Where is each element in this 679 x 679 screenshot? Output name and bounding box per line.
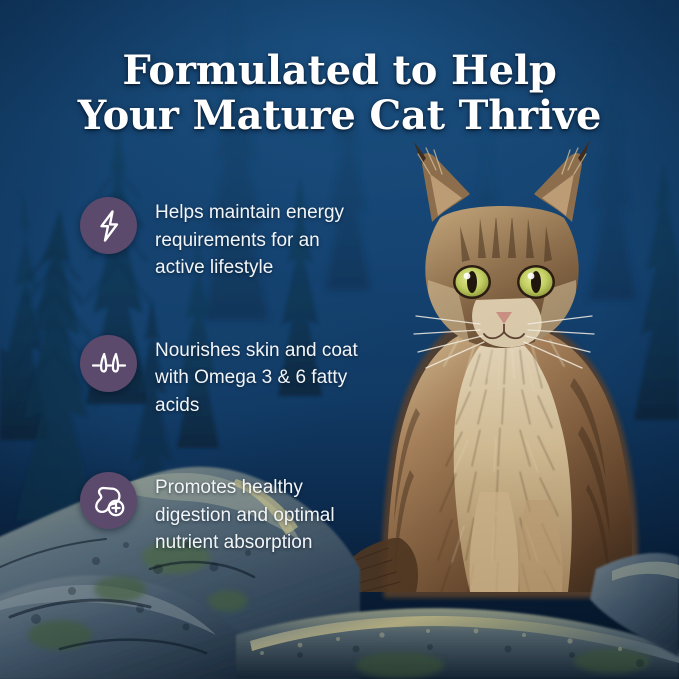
stomach-plus-icon <box>91 484 127 518</box>
benefit-icon-badge-energy <box>80 197 137 254</box>
benefit-item-energy: Helps maintain energy requirements for a… <box>80 196 380 282</box>
benefit-icon-badge-skin-coat <box>80 335 137 392</box>
page-title: Formulated to Help Your Mature Cat Thriv… <box>0 48 679 138</box>
benefit-item-digestion: Promotes healthy digestion and optimal n… <box>80 471 380 557</box>
benefit-text-skin-coat: Nourishes skin and coat with Omega 3 & 6… <box>155 334 373 420</box>
benefit-text-energy: Helps maintain energy requirements for a… <box>155 196 373 282</box>
benefit-text-digestion: Promotes healthy digestion and optimal n… <box>155 471 373 557</box>
benefit-icon-badge-digestion <box>80 472 137 529</box>
lightning-bolt-icon <box>93 209 125 243</box>
poster-root: Formulated to Help Your Mature Cat Thriv… <box>0 0 679 679</box>
benefit-list: Helps maintain energy requirements for a… <box>80 196 380 557</box>
headline-line-1: Formulated to Help <box>0 48 679 93</box>
benefit-item-skin-coat: Nourishes skin and coat with Omega 3 & 6… <box>80 334 380 420</box>
hair-follicle-icon <box>90 348 128 378</box>
headline-line-2: Your Mature Cat Thrive <box>0 93 679 138</box>
